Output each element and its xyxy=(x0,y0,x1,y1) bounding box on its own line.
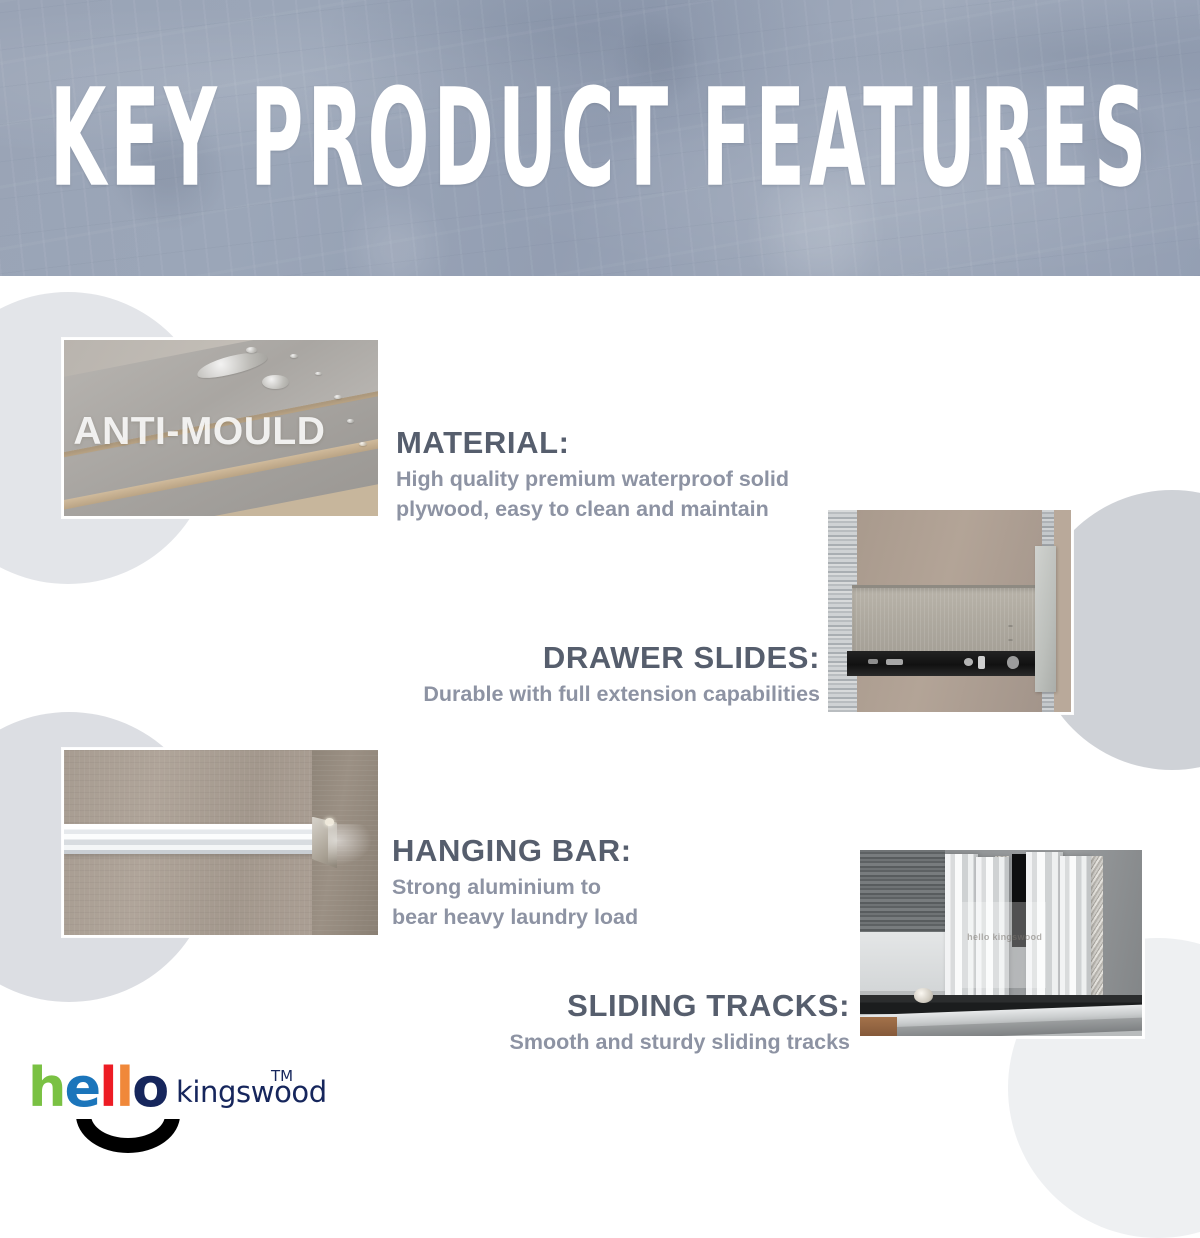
hanging-bar-photo xyxy=(64,750,378,935)
brand-logo: hello kingswood TM xyxy=(28,1063,318,1163)
drawer-front-panel xyxy=(1035,546,1057,691)
feature-body-sliding-tracks: Smooth and sturdy sliding tracks xyxy=(470,1028,850,1058)
feature-caption-hanging-bar: HANGING BAR: Strong aluminium to bear he… xyxy=(392,833,822,932)
sliding-track-photo: hello kingswood xyxy=(860,850,1142,1036)
dark-wall-panel xyxy=(860,850,945,932)
feature-body-line: Strong aluminium to xyxy=(392,873,822,903)
feature-caption-sliding-tracks: SLIDING TRACKS: Smooth and sturdy slidin… xyxy=(470,988,850,1058)
metal-glint xyxy=(328,824,372,865)
logo-wordmark-row: hello kingswood TM xyxy=(28,1063,318,1113)
timber-floor-edge xyxy=(860,1017,897,1036)
image-overlay-label-anti-mould: ANTI-MOULD xyxy=(73,410,325,454)
rail-detail xyxy=(886,659,902,665)
feature-body-drawer-slides: Durable with full extension capabilities xyxy=(370,680,820,710)
feature-title-material: MATERIAL: xyxy=(396,425,826,461)
page-title: KEY PRODUCT FEATURES xyxy=(132,0,1068,276)
feature-body-line: High quality premium waterproof solid xyxy=(396,465,826,495)
photo-watermark-panel xyxy=(962,902,1047,988)
feature-image-sliding-tracks: hello kingswood xyxy=(858,848,1144,1038)
feature-body-material: High quality premium waterproof solid pl… xyxy=(396,465,826,524)
feature-body-line: plywood, easy to clean and maintain xyxy=(396,495,826,525)
logo-letter-l-second: l xyxy=(116,1056,133,1119)
feature-title-drawer-slides: DRAWER SLIDES: xyxy=(370,640,820,676)
water-droplet-small xyxy=(334,395,342,399)
logo-smile-arc xyxy=(76,1119,180,1159)
feature-body-line: Smooth and sturdy sliding tracks xyxy=(470,1028,850,1058)
photo-watermark-text: hello kingswood xyxy=(967,932,1042,942)
light-wall-panel xyxy=(860,932,945,992)
sliding-door-panel xyxy=(1060,856,1091,1012)
logo-letter-e: e xyxy=(64,1056,99,1119)
feature-body-line: Durable with full extension capabilities xyxy=(370,680,820,710)
feature-title-sliding-tracks: SLIDING TRACKS: xyxy=(470,988,850,1024)
logo-brand-word: kingswood xyxy=(176,1075,327,1109)
plywood-photo: ANTI-MOULD xyxy=(64,340,378,516)
rail-detail xyxy=(964,658,973,666)
rail-detail xyxy=(868,659,878,664)
drawer-screw xyxy=(1008,639,1013,641)
logo-hello-wordmark: hello xyxy=(28,1061,167,1115)
water-droplet-medium xyxy=(262,375,289,389)
feature-body-line: bear heavy laundry load xyxy=(392,903,822,933)
drawer-slide-photo xyxy=(828,510,1071,712)
water-droplet-small xyxy=(347,419,354,423)
feature-body-hanging-bar: Strong aluminium to bear heavy laundry l… xyxy=(392,873,822,932)
feature-caption-material: MATERIAL: High quality premium waterproo… xyxy=(396,425,826,524)
aluminium-hanging-rail xyxy=(64,824,321,854)
feature-title-hanging-bar: HANGING BAR: xyxy=(392,833,822,869)
logo-letter-l-first: l xyxy=(99,1056,116,1119)
feature-image-drawer-slides xyxy=(826,508,1073,714)
rail-detail xyxy=(1007,656,1019,669)
feature-image-material: ANTI-MOULD xyxy=(62,338,380,518)
door-roller-wheel xyxy=(914,988,934,1003)
logo-letter-h: h xyxy=(28,1056,64,1119)
rail-detail xyxy=(978,656,985,670)
feature-caption-drawer-slides: DRAWER SLIDES: Durable with full extensi… xyxy=(370,640,820,710)
logo-letter-o: o xyxy=(132,1056,167,1119)
logo-trademark-symbol: TM xyxy=(271,1067,293,1085)
drawer-slide-rail xyxy=(847,651,1051,675)
drawer-screw xyxy=(1008,625,1013,627)
feature-image-hanging-bar xyxy=(62,748,380,937)
water-droplet-small xyxy=(246,347,257,353)
header-banner: KEY PRODUCT FEATURES xyxy=(0,0,1200,276)
